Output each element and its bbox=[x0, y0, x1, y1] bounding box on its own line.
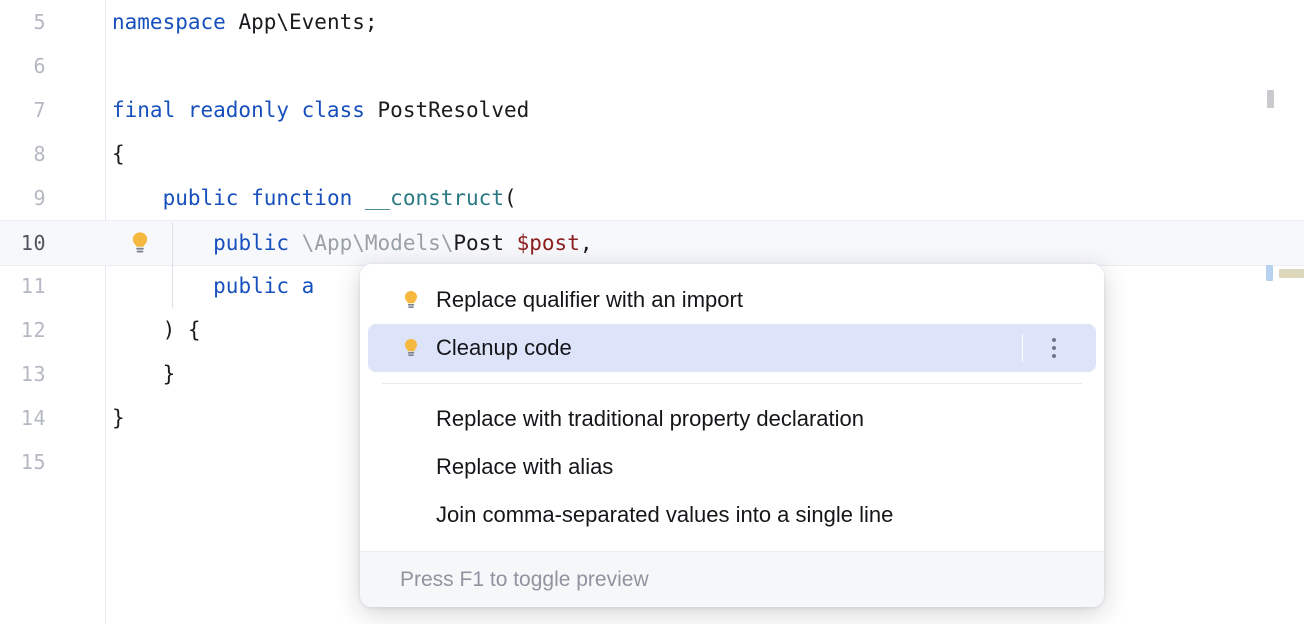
code-line[interactable]: 6 bbox=[0, 44, 1304, 88]
kebab-icon[interactable] bbox=[1052, 338, 1056, 358]
indent-guide bbox=[172, 222, 173, 308]
intention-actions-list: Replace qualifier with an importCleanup … bbox=[360, 264, 1104, 551]
popup-footer: Press F1 to toggle preview bbox=[360, 551, 1104, 607]
code-text: final readonly class PostResolved bbox=[112, 98, 1304, 122]
code-line[interactable]: 7final readonly class PostResolved bbox=[0, 88, 1304, 132]
line-number: 5 bbox=[0, 10, 46, 34]
line-number: 11 bbox=[0, 274, 46, 298]
line-number: 13 bbox=[0, 362, 46, 386]
line-number: 15 bbox=[0, 450, 46, 474]
menu-item-label: Replace with traditional property declar… bbox=[436, 408, 864, 430]
kebab-separator bbox=[1022, 334, 1023, 362]
menu-item[interactable]: Replace with traditional property declar… bbox=[368, 395, 1096, 443]
caret-marker[interactable] bbox=[1266, 265, 1273, 281]
menu-item-label: Cleanup code bbox=[436, 337, 572, 359]
menu-item-icon-placeholder bbox=[400, 456, 422, 478]
line-number: 7 bbox=[0, 98, 46, 122]
menu-item[interactable]: Replace qualifier with an import bbox=[368, 276, 1096, 324]
line-number: 8 bbox=[0, 142, 46, 166]
menu-item-icon-placeholder bbox=[400, 408, 422, 430]
menu-item-more-button[interactable] bbox=[1022, 330, 1086, 366]
menu-item[interactable]: Replace with alias bbox=[368, 443, 1096, 491]
line-number: 9 bbox=[0, 186, 46, 210]
line-number: 6 bbox=[0, 54, 46, 78]
highlight-band[interactable] bbox=[1279, 269, 1304, 278]
menu-item-selected[interactable]: Cleanup code bbox=[368, 324, 1096, 372]
code-line[interactable]: 9 public function __construct( bbox=[0, 176, 1304, 220]
code-text: { bbox=[112, 142, 1304, 166]
menu-item[interactable]: Join comma-separated values into a singl… bbox=[368, 491, 1096, 539]
code-text: public \App\Models\Post $post, bbox=[112, 231, 1304, 255]
code-text: public function __construct( bbox=[112, 186, 1304, 210]
menu-item-label: Replace qualifier with an import bbox=[436, 289, 743, 311]
code-line[interactable]: 8{ bbox=[0, 132, 1304, 176]
line-number: 14 bbox=[0, 406, 46, 430]
menu-separator bbox=[382, 383, 1082, 384]
lightbulb-icon bbox=[400, 289, 422, 311]
menu-item-label: Join comma-separated values into a singl… bbox=[436, 504, 893, 526]
warning-marker[interactable] bbox=[1267, 90, 1274, 108]
menu-item-label: Replace with alias bbox=[436, 456, 613, 478]
menu-item-icon-placeholder bbox=[400, 504, 422, 526]
code-line-current[interactable]: 10 public \App\Models\Post $post, bbox=[0, 220, 1304, 266]
intention-actions-popup[interactable]: Replace qualifier with an importCleanup … bbox=[360, 264, 1104, 607]
code-line[interactable]: 5namespace App\Events; bbox=[0, 0, 1304, 44]
lightbulb-icon bbox=[400, 337, 422, 359]
line-number: 10 bbox=[0, 231, 46, 255]
code-text: namespace App\Events; bbox=[112, 10, 1304, 34]
line-number: 12 bbox=[0, 318, 46, 342]
preview-hint: Press F1 to toggle preview bbox=[400, 568, 649, 592]
